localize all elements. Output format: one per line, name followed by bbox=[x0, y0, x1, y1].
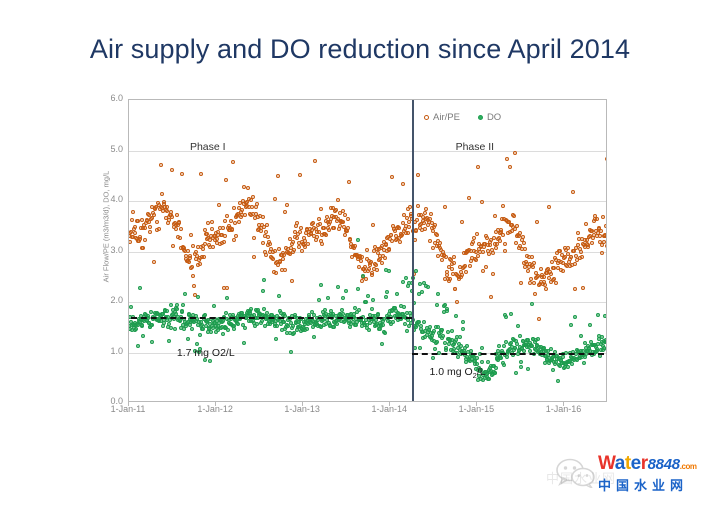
reference-line-1-7 bbox=[131, 317, 412, 319]
data-point bbox=[298, 230, 302, 234]
data-point bbox=[262, 278, 266, 282]
data-point bbox=[522, 241, 526, 245]
data-point bbox=[484, 265, 488, 269]
data-point bbox=[177, 221, 181, 225]
data-point bbox=[178, 236, 182, 240]
data-point bbox=[556, 379, 560, 383]
data-point bbox=[573, 287, 577, 291]
data-point bbox=[383, 256, 387, 260]
data-point bbox=[397, 226, 401, 230]
data-point bbox=[432, 329, 436, 333]
target-label-1-0: 1.0 mg O2/L bbox=[429, 366, 485, 380]
data-point bbox=[383, 331, 387, 335]
data-point bbox=[143, 238, 147, 242]
phase-divider-line bbox=[412, 100, 414, 401]
data-point bbox=[423, 227, 427, 231]
data-point bbox=[136, 344, 140, 348]
data-point bbox=[450, 329, 454, 333]
data-point bbox=[495, 242, 499, 246]
data-point bbox=[170, 215, 174, 219]
data-point bbox=[183, 292, 187, 296]
data-point bbox=[492, 236, 496, 240]
y-tick-label: 4.0 bbox=[83, 195, 123, 204]
data-point bbox=[189, 233, 193, 237]
data-point bbox=[167, 339, 171, 343]
y-tick-label: 6.0 bbox=[83, 94, 123, 103]
data-point bbox=[170, 168, 174, 172]
data-point bbox=[605, 347, 607, 351]
logo-letter-a: a bbox=[615, 453, 625, 474]
data-point bbox=[148, 230, 152, 234]
data-point bbox=[423, 211, 427, 215]
data-point bbox=[221, 332, 225, 336]
data-point bbox=[370, 273, 374, 277]
data-point bbox=[549, 272, 553, 276]
data-point bbox=[487, 377, 491, 381]
data-point bbox=[418, 346, 422, 350]
data-point bbox=[240, 208, 244, 212]
data-point bbox=[505, 157, 509, 161]
data-point bbox=[445, 309, 449, 313]
data-point bbox=[497, 344, 501, 348]
x-tick-label: 1-Jan-15 bbox=[438, 404, 514, 414]
data-point bbox=[208, 359, 212, 363]
data-point bbox=[191, 244, 195, 248]
data-point bbox=[221, 226, 225, 230]
data-point bbox=[359, 259, 363, 263]
data-point bbox=[190, 265, 194, 269]
data-point bbox=[533, 292, 537, 296]
data-point bbox=[315, 235, 319, 239]
data-point bbox=[530, 302, 534, 306]
data-point bbox=[387, 269, 391, 273]
data-point bbox=[599, 229, 603, 233]
data-point bbox=[603, 314, 607, 318]
data-point bbox=[224, 178, 228, 182]
watermark: 中国水业网 Water8848.com 中国水业网 bbox=[556, 452, 720, 502]
data-point bbox=[537, 317, 541, 321]
data-point bbox=[336, 198, 340, 202]
data-point bbox=[461, 320, 465, 324]
data-point bbox=[375, 268, 379, 272]
data-point bbox=[192, 284, 196, 288]
data-point bbox=[166, 221, 170, 225]
data-point bbox=[209, 330, 213, 334]
data-point bbox=[561, 269, 565, 273]
data-point bbox=[353, 244, 357, 248]
data-point bbox=[499, 356, 503, 360]
data-point bbox=[251, 195, 255, 199]
data-point bbox=[198, 262, 202, 266]
data-point bbox=[476, 165, 480, 169]
data-point bbox=[531, 265, 535, 269]
data-point bbox=[357, 265, 361, 269]
data-point bbox=[582, 361, 586, 365]
data-point bbox=[590, 241, 594, 245]
data-point bbox=[433, 223, 437, 227]
data-point bbox=[472, 236, 476, 240]
data-point bbox=[588, 323, 592, 327]
data-point bbox=[201, 247, 205, 251]
data-point bbox=[252, 236, 256, 240]
data-point bbox=[225, 214, 229, 218]
data-point bbox=[461, 327, 465, 331]
data-point bbox=[250, 205, 254, 209]
data-point bbox=[450, 267, 454, 271]
data-point bbox=[173, 327, 177, 331]
data-point bbox=[428, 325, 432, 329]
data-point bbox=[441, 334, 445, 338]
data-point bbox=[476, 254, 480, 258]
data-point bbox=[503, 249, 507, 253]
data-point bbox=[502, 344, 506, 348]
data-point bbox=[480, 346, 484, 350]
data-point bbox=[600, 251, 604, 255]
target2-pre: 1.0 mg O bbox=[429, 366, 472, 378]
data-point bbox=[212, 304, 216, 308]
logo-wordmark: Water8848.com bbox=[598, 454, 696, 477]
data-point bbox=[141, 334, 145, 338]
data-point bbox=[175, 307, 179, 311]
data-point bbox=[152, 213, 156, 217]
data-point bbox=[155, 220, 159, 224]
data-point bbox=[243, 326, 247, 330]
data-point bbox=[515, 224, 519, 228]
data-point bbox=[186, 249, 190, 253]
data-point bbox=[384, 295, 388, 299]
data-point bbox=[460, 273, 464, 277]
data-point bbox=[460, 220, 464, 224]
data-point bbox=[305, 327, 309, 331]
data-point bbox=[268, 242, 272, 246]
data-point bbox=[464, 270, 468, 274]
data-point bbox=[226, 328, 230, 332]
data-point bbox=[452, 255, 456, 259]
data-point bbox=[491, 272, 495, 276]
data-point bbox=[471, 240, 475, 244]
data-point bbox=[210, 220, 214, 224]
data-point bbox=[225, 296, 229, 300]
data-point bbox=[283, 268, 287, 272]
data-point bbox=[138, 286, 142, 290]
data-point bbox=[519, 281, 523, 285]
data-point bbox=[489, 295, 493, 299]
data-point bbox=[429, 212, 433, 216]
data-point bbox=[601, 215, 605, 219]
data-point bbox=[188, 256, 192, 260]
data-point bbox=[475, 232, 479, 236]
data-point bbox=[573, 262, 577, 266]
legend-item-do: DO bbox=[478, 112, 501, 123]
data-point bbox=[406, 231, 410, 235]
data-point bbox=[347, 180, 351, 184]
data-point bbox=[407, 220, 411, 224]
chart-container: Air Flow/PE (m3/m3/d), DO, mg/L 0.01.02.… bbox=[84, 92, 620, 430]
target-label-1-7: 1.7 mg O2/L bbox=[177, 347, 235, 359]
data-point bbox=[299, 226, 303, 230]
data-point bbox=[259, 229, 263, 233]
data-point bbox=[455, 300, 459, 304]
legend-marker-do-icon bbox=[478, 115, 483, 120]
data-point bbox=[433, 347, 437, 351]
data-point bbox=[514, 371, 518, 375]
data-point bbox=[431, 356, 435, 360]
data-point bbox=[336, 285, 340, 289]
data-point bbox=[261, 289, 265, 293]
data-point bbox=[502, 363, 506, 367]
data-point bbox=[584, 222, 588, 226]
data-point bbox=[332, 226, 336, 230]
data-point bbox=[290, 279, 294, 283]
data-point bbox=[440, 258, 444, 262]
data-point bbox=[499, 228, 503, 232]
data-point bbox=[157, 227, 161, 231]
data-point bbox=[210, 227, 214, 231]
data-point bbox=[323, 308, 327, 312]
data-point bbox=[346, 226, 350, 230]
data-point bbox=[595, 217, 599, 221]
data-point bbox=[255, 202, 259, 206]
data-point bbox=[374, 263, 378, 267]
data-point bbox=[539, 267, 543, 271]
data-point bbox=[501, 204, 505, 208]
logo-letter-w: W bbox=[598, 453, 615, 474]
gridline bbox=[129, 201, 606, 202]
data-point bbox=[605, 244, 607, 248]
data-point bbox=[440, 328, 444, 332]
data-point bbox=[491, 251, 495, 255]
data-point bbox=[252, 255, 256, 259]
data-point bbox=[428, 239, 432, 243]
data-point bbox=[428, 217, 432, 221]
data-point bbox=[530, 255, 534, 259]
data-point bbox=[519, 360, 523, 364]
data-point bbox=[391, 320, 395, 324]
data-point bbox=[295, 236, 299, 240]
data-point bbox=[400, 233, 404, 237]
data-point bbox=[265, 223, 269, 227]
data-point bbox=[552, 277, 556, 281]
data-point bbox=[465, 344, 469, 348]
data-point bbox=[148, 225, 152, 229]
data-point bbox=[277, 247, 281, 251]
data-point bbox=[420, 290, 424, 294]
data-point bbox=[186, 337, 190, 341]
data-point bbox=[381, 323, 385, 327]
data-point bbox=[512, 214, 516, 218]
y-tick-label: 3.0 bbox=[83, 246, 123, 255]
data-point bbox=[360, 255, 364, 259]
data-point bbox=[532, 281, 536, 285]
data-point bbox=[402, 305, 406, 309]
data-point bbox=[236, 322, 240, 326]
data-point bbox=[518, 334, 522, 338]
data-point bbox=[566, 365, 570, 369]
data-point bbox=[516, 324, 520, 328]
data-point bbox=[401, 182, 405, 186]
data-point bbox=[326, 296, 330, 300]
data-point bbox=[579, 334, 583, 338]
data-point bbox=[261, 241, 265, 245]
data-point bbox=[191, 274, 195, 278]
data-point bbox=[289, 350, 293, 354]
data-point bbox=[454, 314, 458, 318]
data-point bbox=[526, 367, 530, 371]
data-point bbox=[167, 218, 171, 222]
data-point bbox=[317, 298, 321, 302]
logo-letter-r: r bbox=[641, 453, 648, 474]
data-point bbox=[242, 185, 246, 189]
data-point bbox=[217, 203, 221, 207]
data-point bbox=[598, 354, 602, 358]
data-point bbox=[552, 266, 556, 270]
data-point bbox=[357, 308, 361, 312]
data-point bbox=[544, 287, 548, 291]
data-point bbox=[474, 258, 478, 262]
data-point bbox=[335, 322, 339, 326]
data-point bbox=[508, 165, 512, 169]
x-tick-label: 1-Jan-11 bbox=[90, 404, 166, 414]
data-point bbox=[579, 250, 583, 254]
data-point bbox=[332, 325, 336, 329]
plot-area: Phase I Phase II 1.7 mg O2/L 1.0 mg O2/L bbox=[128, 99, 607, 402]
data-point bbox=[160, 192, 164, 196]
data-point bbox=[198, 333, 202, 337]
data-point bbox=[448, 277, 452, 281]
data-point bbox=[550, 260, 554, 264]
data-point bbox=[571, 190, 575, 194]
logo-tld: .com bbox=[680, 462, 697, 471]
data-point bbox=[311, 221, 315, 225]
data-point bbox=[206, 221, 210, 225]
data-point bbox=[443, 341, 447, 345]
data-point bbox=[543, 283, 547, 287]
data-point bbox=[416, 204, 420, 208]
data-point bbox=[231, 160, 235, 164]
data-point bbox=[232, 238, 236, 242]
data-point bbox=[554, 281, 558, 285]
data-point bbox=[416, 173, 420, 177]
data-point bbox=[128, 240, 132, 244]
data-point bbox=[521, 235, 525, 239]
x-tick-label: 1-Jan-13 bbox=[264, 404, 340, 414]
data-point bbox=[395, 292, 399, 296]
data-point bbox=[274, 271, 278, 275]
phase-2-label: Phase II bbox=[456, 141, 495, 153]
data-point bbox=[547, 205, 551, 209]
data-point bbox=[334, 208, 338, 212]
data-point bbox=[325, 215, 329, 219]
data-point bbox=[405, 216, 409, 220]
data-point bbox=[605, 157, 607, 161]
data-point bbox=[384, 242, 388, 246]
data-point bbox=[488, 243, 492, 247]
data-point bbox=[536, 337, 540, 341]
data-point bbox=[580, 255, 584, 259]
data-point bbox=[313, 159, 317, 163]
data-point bbox=[169, 326, 173, 330]
data-point bbox=[225, 286, 229, 290]
data-point bbox=[603, 233, 607, 237]
data-point bbox=[281, 257, 285, 261]
data-point bbox=[319, 207, 323, 211]
data-point bbox=[179, 227, 183, 231]
data-point bbox=[453, 287, 457, 291]
data-point bbox=[324, 233, 328, 237]
data-point bbox=[223, 234, 227, 238]
data-point bbox=[364, 277, 368, 281]
data-point bbox=[468, 264, 472, 268]
data-point bbox=[343, 233, 347, 237]
data-point bbox=[276, 174, 280, 178]
data-point bbox=[605, 340, 607, 344]
data-point bbox=[190, 327, 194, 331]
data-point bbox=[443, 205, 447, 209]
data-point bbox=[480, 360, 484, 364]
data-point bbox=[436, 292, 440, 296]
data-point bbox=[344, 289, 348, 293]
data-point bbox=[277, 294, 281, 298]
data-point bbox=[532, 261, 536, 265]
x-tick-label: 1-Jan-16 bbox=[525, 404, 601, 414]
data-point bbox=[493, 214, 497, 218]
logo-number: 8848 bbox=[648, 456, 680, 473]
page-title: Air supply and DO reduction since April … bbox=[0, 34, 720, 65]
data-point bbox=[232, 206, 236, 210]
data-point bbox=[493, 371, 497, 375]
data-point bbox=[242, 341, 246, 345]
data-point bbox=[234, 234, 238, 238]
data-point bbox=[282, 253, 286, 257]
data-point bbox=[211, 245, 215, 249]
data-point bbox=[134, 327, 138, 331]
data-point bbox=[297, 245, 301, 249]
data-point bbox=[261, 215, 265, 219]
data-point bbox=[195, 342, 199, 346]
data-point bbox=[542, 275, 546, 279]
data-point bbox=[569, 323, 573, 327]
data-point bbox=[181, 303, 185, 307]
data-point bbox=[390, 175, 394, 179]
data-point bbox=[141, 246, 145, 250]
data-point bbox=[444, 346, 448, 350]
data-point bbox=[150, 323, 154, 327]
data-point bbox=[424, 207, 428, 211]
data-point bbox=[467, 196, 471, 200]
data-point bbox=[385, 290, 389, 294]
data-point bbox=[150, 340, 154, 344]
data-point bbox=[138, 237, 142, 241]
data-point bbox=[230, 227, 234, 231]
data-point bbox=[171, 244, 175, 248]
data-point bbox=[452, 261, 456, 265]
data-point bbox=[529, 277, 533, 281]
data-point bbox=[509, 312, 513, 316]
data-point bbox=[389, 233, 393, 237]
data-point bbox=[273, 197, 277, 201]
data-point bbox=[370, 307, 374, 311]
data-point bbox=[438, 241, 442, 245]
data-point bbox=[360, 279, 364, 283]
y-tick-label: 2.0 bbox=[83, 296, 123, 305]
data-point bbox=[426, 285, 430, 289]
y-tick-label: 5.0 bbox=[83, 145, 123, 154]
data-point bbox=[180, 172, 184, 176]
data-point bbox=[175, 213, 179, 217]
y-tick-label: 1.0 bbox=[83, 347, 123, 356]
data-point bbox=[283, 210, 287, 214]
data-point bbox=[187, 260, 191, 264]
